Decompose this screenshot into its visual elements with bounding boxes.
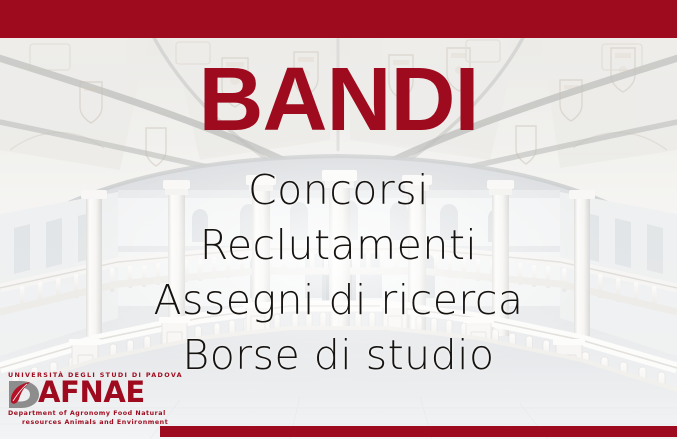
poster-canvas: BANDI Concorsi Reclutamenti Assegni di r… <box>0 0 677 439</box>
logo-acronym-rest: AFNAE <box>38 378 145 407</box>
logo-department-line-1: Department of Agronomy Food Natural <box>8 410 168 419</box>
logo-department-lines: Department of Agronomy Food Natural reso… <box>8 410 168 427</box>
page-title: BANDI <box>0 55 677 145</box>
bottom-red-bar <box>160 426 677 437</box>
subtitle-reclutamenti: Reclutamenti <box>0 218 677 273</box>
top-red-bar <box>0 0 677 38</box>
subtitle-assegni-di-ricerca: Assegni di ricerca <box>0 273 677 328</box>
logo-wordmark: AFNAE <box>8 380 164 409</box>
logo-department-line-2: resources Animals and Environment <box>8 419 168 428</box>
subtitle-concorsi: Concorsi <box>0 163 677 218</box>
subtitle-list: Concorsi Reclutamenti Assegni di ricerca… <box>0 163 677 383</box>
dafnae-logo: UNIVERSITÀ DEGLI STUDI DI PADOVA AFNAE D… <box>8 371 168 427</box>
